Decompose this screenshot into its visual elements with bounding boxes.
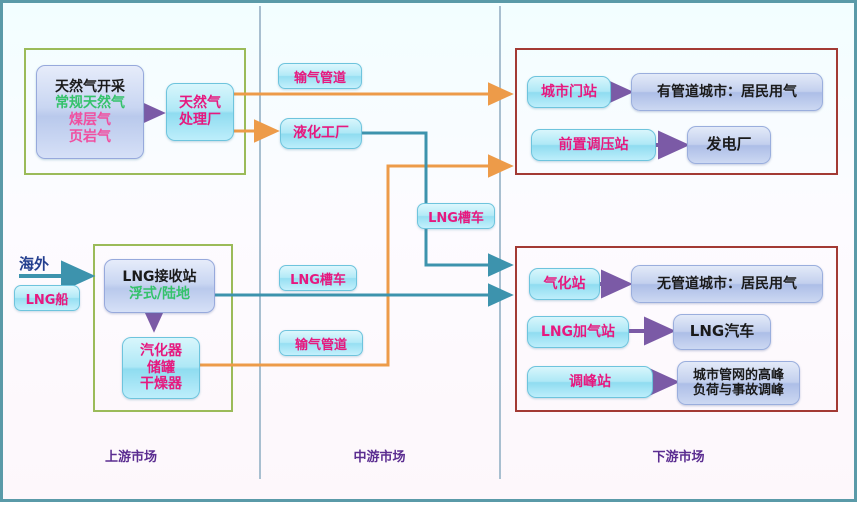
lng-vehicle-label: LNG汽车 — [690, 323, 754, 341]
liquefaction-plant-label: 液化工厂 — [293, 125, 349, 142]
node-lng-vehicle[interactable]: LNG汽车 — [673, 314, 771, 350]
processing-plant-line-1: 天然气 — [179, 95, 221, 112]
extraction-line-1: 天然气开采 — [55, 79, 125, 96]
label-overseas: 海外 — [19, 253, 49, 274]
lng-filling-station-label: LNG加气站 — [541, 324, 615, 341]
node-gasification-station[interactable]: 气化站 — [529, 268, 600, 300]
footer-label-midstream: 中游市场 — [260, 446, 499, 465]
piped-city-residential-label: 有管道城市：居民用气 — [657, 84, 797, 101]
pill-lng-truck-lower[interactable]: LNG槽车 — [279, 265, 357, 291]
node-peak-load-target[interactable]: 城市管网的高峰 负荷与事故调峰 — [677, 361, 800, 405]
regas-line-1: 汽化器 — [140, 343, 182, 360]
diagram-canvas: 天然气开采 常规天然气 煤层气 页岩气 天然气 处理厂 海外 LNG船 LNG接… — [0, 0, 857, 502]
extraction-line-3: 煤层气 — [69, 112, 111, 129]
extraction-line-2: 常规天然气 — [55, 95, 125, 112]
footer-label-upstream: 上游市场 — [3, 446, 259, 465]
peak-shaving-station-label: 调峰站 — [569, 374, 611, 391]
city-gate-station-label: 城市门站 — [541, 84, 597, 101]
node-processing-plant[interactable]: 天然气 处理厂 — [166, 83, 234, 141]
node-lng-filling-station[interactable]: LNG加气站 — [527, 316, 629, 348]
pill-pipeline-bottom[interactable]: 输气管道 — [279, 330, 363, 356]
node-peak-shaving-station[interactable]: 调峰站 — [527, 366, 653, 398]
regas-line-2: 储罐 — [147, 360, 175, 377]
processing-plant-line-2: 处理厂 — [179, 112, 221, 129]
lng-terminal-line-1: LNG接收站 — [122, 269, 196, 286]
node-gas-extraction[interactable]: 天然气开采 常规天然气 煤层气 页岩气 — [36, 65, 144, 159]
power-plant-label: 发电厂 — [706, 136, 751, 154]
node-piped-city-residential[interactable]: 有管道城市：居民用气 — [631, 73, 823, 111]
lng-terminal-line-2: 浮式/陆地 — [129, 286, 190, 303]
node-power-plant[interactable]: 发电厂 — [687, 126, 771, 164]
node-lng-terminal[interactable]: LNG接收站 浮式/陆地 — [104, 259, 215, 313]
peak-load-line-1: 城市管网的高峰 — [693, 368, 784, 383]
pill-lng-ship[interactable]: LNG船 — [14, 285, 80, 311]
node-city-gate-station[interactable]: 城市门站 — [527, 76, 611, 108]
regas-line-3: 干燥器 — [140, 376, 182, 393]
footer-label-downstream: 下游市场 — [500, 446, 857, 465]
node-pressure-regulating-station[interactable]: 前置调压站 — [531, 129, 656, 161]
node-unpiped-city-residential[interactable]: 无管道城市：居民用气 — [631, 265, 823, 303]
pill-pipeline-top[interactable]: 输气管道 — [278, 63, 362, 89]
peak-load-line-2: 负荷与事故调峰 — [693, 383, 784, 398]
node-regasification-unit[interactable]: 汽化器 储罐 干燥器 — [122, 337, 200, 399]
pill-lng-truck-upper[interactable]: LNG槽车 — [417, 203, 495, 229]
node-liquefaction-plant[interactable]: 液化工厂 — [280, 118, 362, 149]
gasification-station-label: 气化站 — [544, 276, 586, 293]
extraction-line-4: 页岩气 — [69, 129, 111, 146]
unpiped-city-residential-label: 无管道城市：居民用气 — [657, 276, 797, 293]
pressure-regulating-station-label: 前置调压站 — [559, 137, 629, 154]
